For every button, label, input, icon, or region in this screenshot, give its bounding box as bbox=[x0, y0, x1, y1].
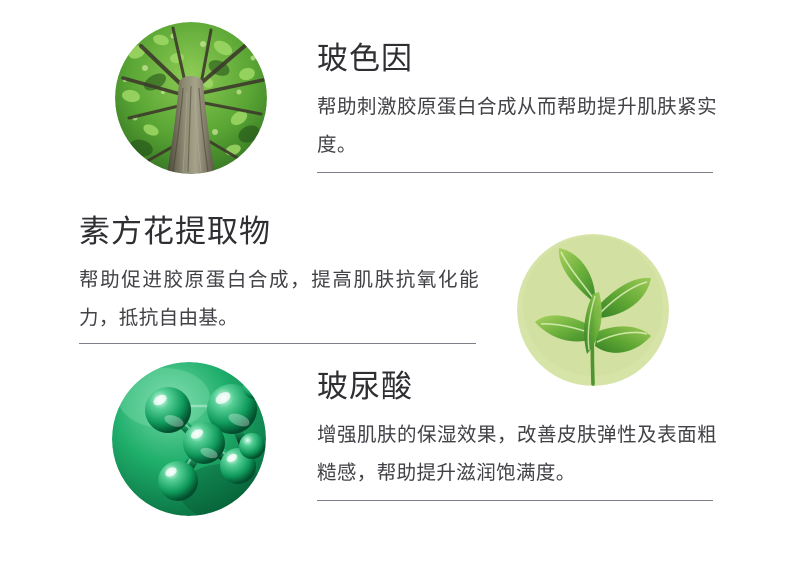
tree-canopy-photo-circle bbox=[115, 22, 267, 174]
ingredient-description: 帮助刺激胶原蛋白合成从而帮助提升肌肤紧实度。 bbox=[317, 88, 717, 164]
text-column-pro-xylane: 玻色因 帮助刺激胶原蛋白合成从而帮助提升肌肤紧实度。 bbox=[317, 40, 717, 164]
section-divider bbox=[317, 500, 713, 501]
section-divider bbox=[79, 343, 476, 344]
ingredient-title: 素方花提取物 bbox=[79, 213, 479, 251]
ingredient-title: 玻尿酸 bbox=[317, 368, 717, 406]
ingredient-description: 增强肌肤的保湿效果，改善皮肤弹性及表面粗糙感，帮助提升滋润饱满度。 bbox=[317, 416, 717, 492]
text-column-hyaluronic-acid: 玻尿酸 增强肌肤的保湿效果，改善皮肤弹性及表面粗糙感，帮助提升滋润饱满度。 bbox=[317, 368, 717, 492]
ingredient-description: 帮助促进胶原蛋白合成，提高肌肤抗氧化能力，抵抗自由基。 bbox=[79, 261, 479, 337]
ingredient-benefits-panel: 玻色因 帮助刺激胶原蛋白合成从而帮助提升肌肤紧实度。 素方花提取物 帮助促进胶原… bbox=[0, 0, 790, 578]
text-column-jasminum-officinale-extract: 素方花提取物 帮助促进胶原蛋白合成，提高肌肤抗氧化能力，抵抗自由基。 bbox=[79, 213, 479, 337]
green-leaves-illustration-circle bbox=[517, 234, 669, 386]
ingredient-title: 玻色因 bbox=[317, 40, 717, 78]
section-divider bbox=[317, 172, 713, 173]
molecule-structure-circle bbox=[112, 362, 266, 516]
